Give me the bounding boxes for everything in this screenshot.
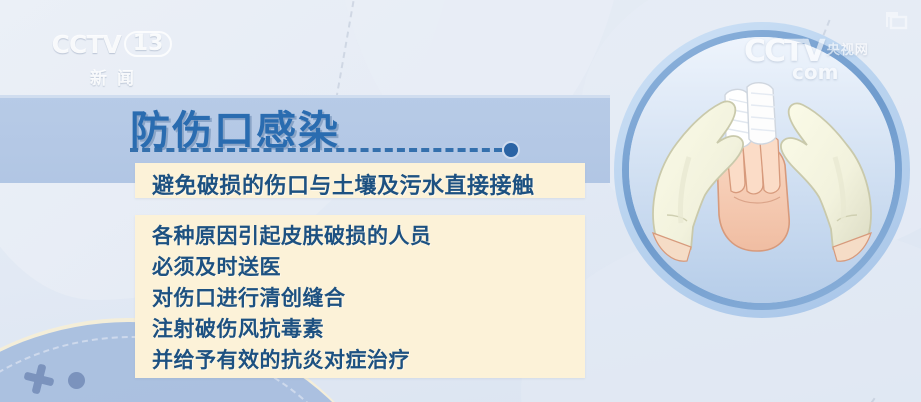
body-line: 对伤口进行清创缝合 [152, 283, 572, 314]
circle-photo-area [629, 37, 895, 303]
body-line: 各种原因引起皮肤破损的人员 [152, 221, 572, 252]
channel-name-cn: 新闻 [90, 64, 144, 89]
subtitle-text: 避免破损的伤口与土壤及污水直接接触 [152, 168, 535, 200]
title-rule-end-dot [504, 143, 518, 157]
broadcast-frame: CCTV 13 新闻 防伤口感染 避免破损的伤口与土壤及污水直接接触 各种原因引… [0, 0, 921, 402]
dot-icon [68, 372, 85, 389]
gloved-hands-illustration [629, 37, 895, 303]
body-line: 必须及时送医 [152, 252, 572, 283]
illustration-circle [614, 22, 910, 318]
cctv13-logo: CCTV 13 新闻 [46, 30, 178, 88]
picture-in-picture-icon[interactable] [884, 10, 908, 30]
cctv-wordmark: CCTV [52, 30, 121, 59]
channel-number: 13 [124, 31, 173, 57]
cctv13-logo-row: CCTV 13 [52, 30, 173, 59]
title-dashed-rule [130, 148, 502, 152]
body-line: 注射破伤风抗毒素 [152, 314, 572, 345]
body-line: 并给予有效的抗炎对症治疗 [152, 345, 572, 376]
body-text-block: 各种原因引起皮肤破损的人员 必须及时送医 对伤口进行清创缝合 注射破伤风抗毒素 … [152, 221, 572, 376]
